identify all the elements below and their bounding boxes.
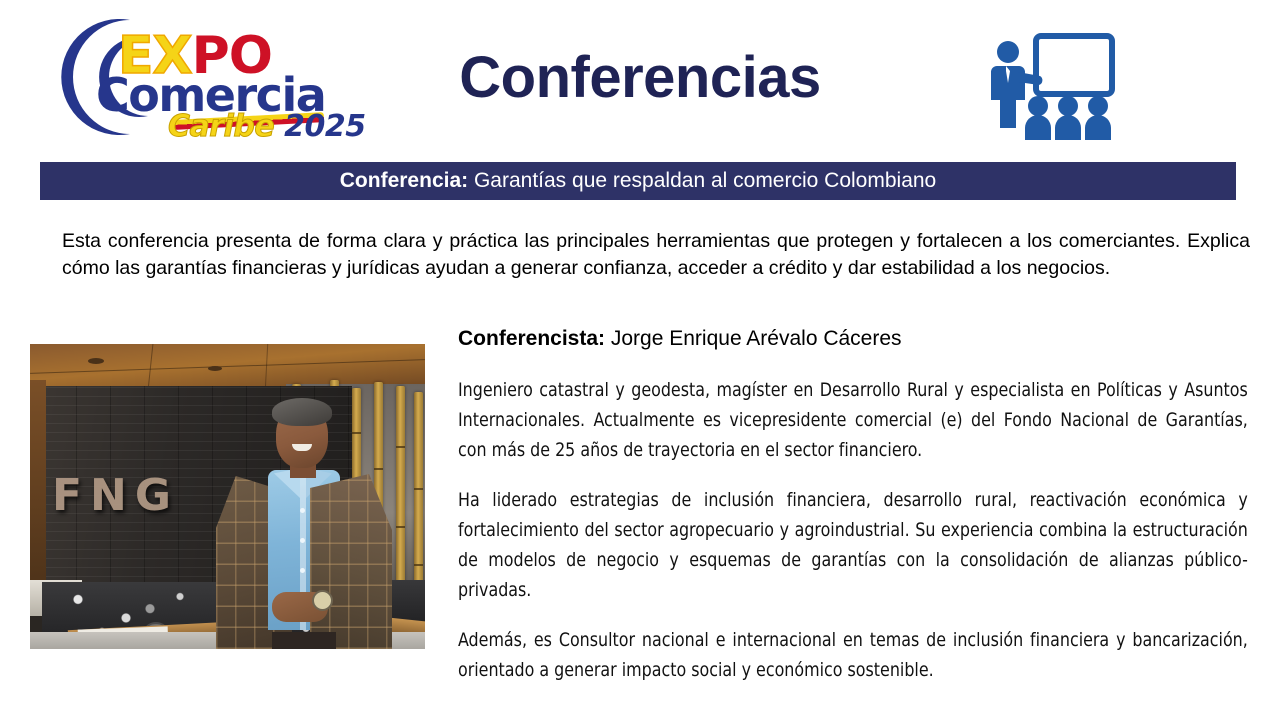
photo-wall-edge [30, 380, 46, 592]
logo-caribe-word: Caribe [168, 109, 274, 144]
speaker-name: Jorge Enrique Arévalo Cáceres [611, 327, 902, 350]
photo-shirt-button [300, 568, 305, 573]
photo-jacket-right [310, 474, 392, 649]
slide-header: EXPO Comercia Caribe 2025 Conferencias [0, 0, 1280, 155]
banner-text: Conferencia: Garantías que respaldan al … [340, 169, 936, 193]
speaker-name-line: Conferencista: Jorge Enrique Arévalo Các… [458, 325, 1248, 353]
photo-bamboo-pole [396, 386, 405, 612]
banner-title: Garantías que respaldan al comercio Colo… [474, 169, 936, 192]
photo-person [210, 400, 395, 649]
logo-caribe-year: Caribe 2025 [168, 112, 366, 142]
presentation-speaker-icon [978, 28, 1118, 140]
photo-downlight [88, 358, 104, 364]
photo-shirt-button [300, 508, 305, 513]
speaker-bio-paragraph: Ha liderado estrategias de inclusión fin… [458, 485, 1248, 605]
photo-shirt-button [300, 538, 305, 543]
photo-trousers [272, 632, 336, 649]
speaker-photo: FNG [30, 344, 425, 649]
logo-year: 2025 [284, 109, 366, 144]
photo-hair [272, 398, 332, 426]
speaker-details: Conferencista: Jorge Enrique Arévalo Các… [458, 325, 1248, 705]
speaker-bio-paragraph: Además, es Consultor nacional e internac… [458, 625, 1248, 685]
conference-title-banner: Conferencia: Garantías que respaldan al … [40, 162, 1236, 200]
photo-downlight [208, 366, 222, 371]
speaker-label: Conferencista: [458, 327, 605, 350]
conference-description: Esta conferencia presenta de forma clara… [62, 228, 1250, 282]
banner-label: Conferencia: [340, 169, 468, 192]
photo-wristwatch [312, 590, 333, 611]
photo-bamboo-pole [414, 392, 423, 608]
speaker-bio-paragraph: Ingeniero catastral y geodesta, magíster… [458, 375, 1248, 465]
